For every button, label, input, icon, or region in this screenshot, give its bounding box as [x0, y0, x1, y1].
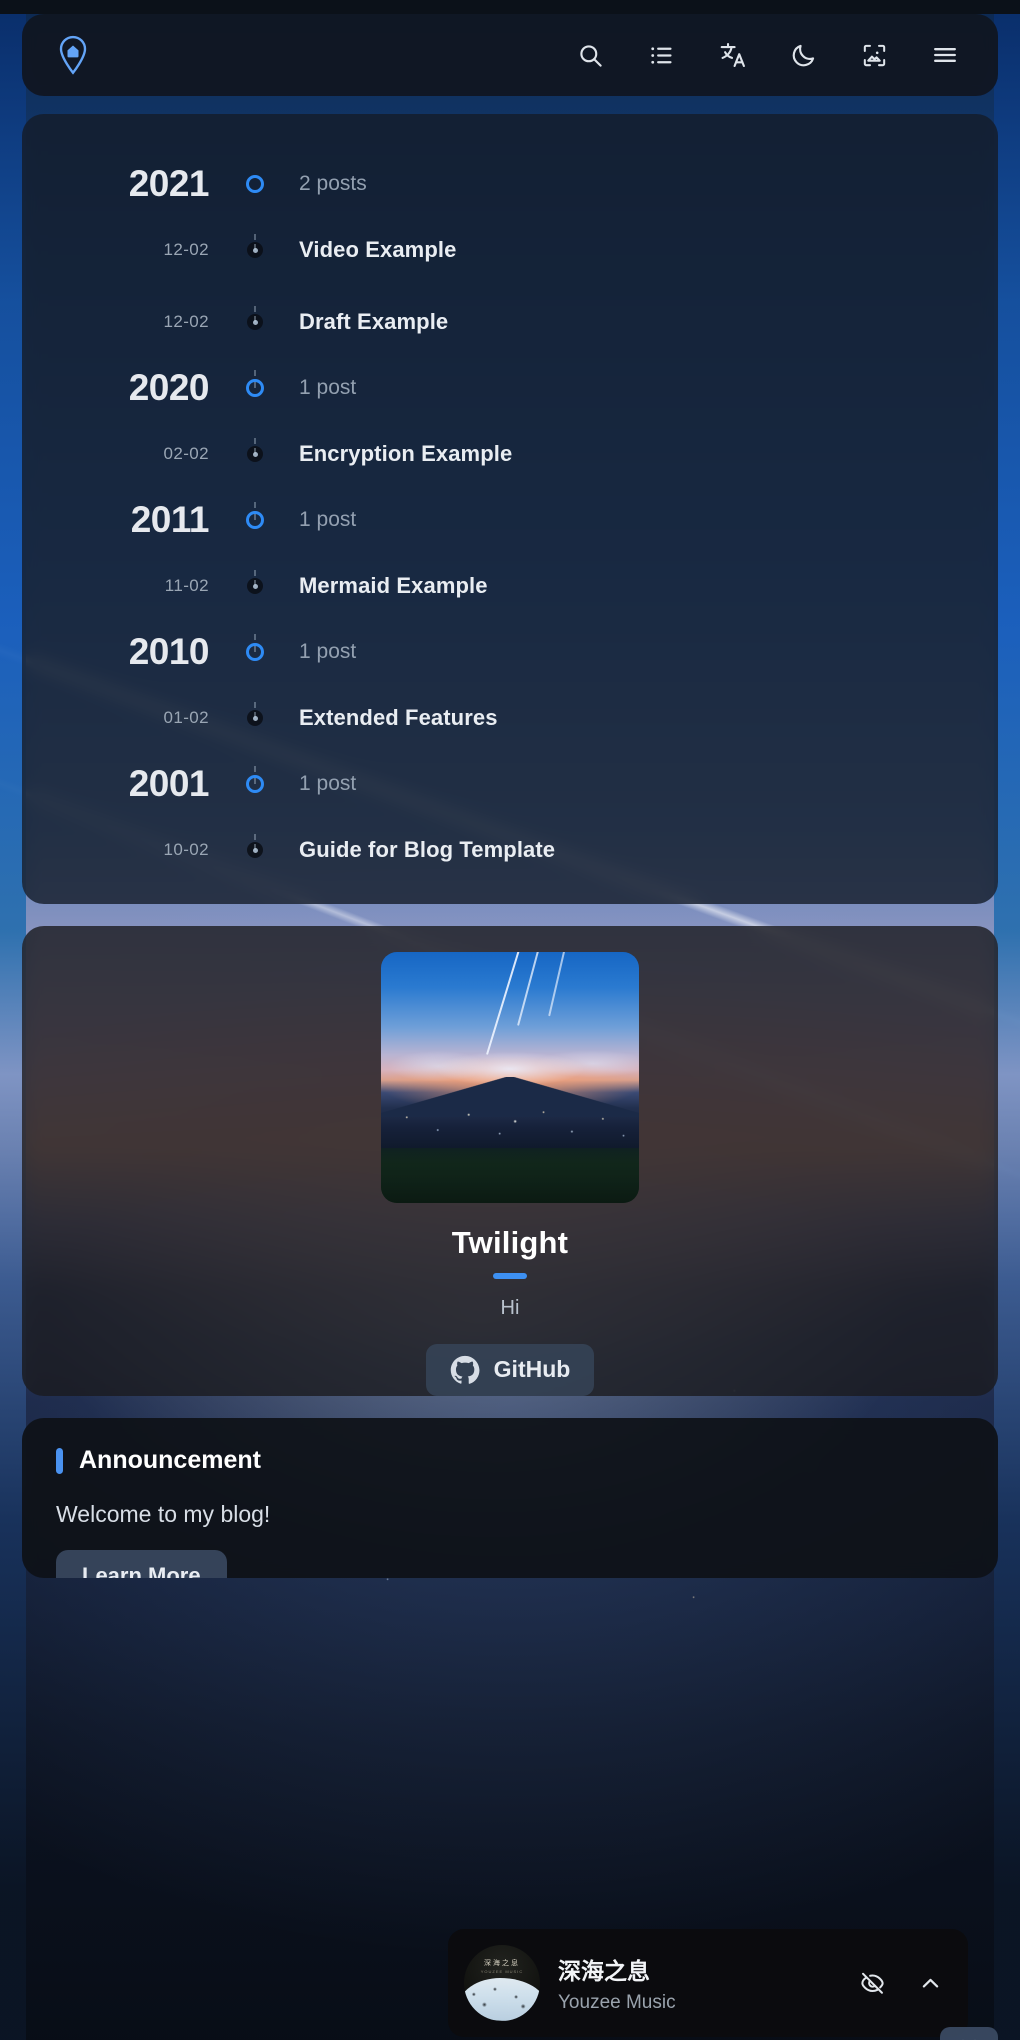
timeline-year: 2010: [129, 631, 209, 672]
timeline-year-dot: [246, 175, 264, 193]
timeline-year-dot: [246, 643, 264, 661]
timeline-year-row: 20212 posts: [22, 154, 998, 214]
timeline-date-cell: 12-02: [22, 312, 235, 332]
timeline-year-dot: [246, 511, 264, 529]
timeline-title-cell: Extended Features: [275, 705, 998, 731]
timeline-count-cell: 1 post: [275, 772, 998, 796]
timeline-count-cell: 1 post: [275, 640, 998, 664]
timeline-post-count: 1 post: [299, 640, 356, 663]
timeline-marker-column: [235, 710, 275, 726]
timeline-year-cell: 2001: [22, 763, 235, 805]
toc-list-icon[interactable]: [644, 38, 678, 72]
timeline-marker-column: [235, 775, 275, 793]
timeline-post-row[interactable]: 02-02Encryption Example: [22, 418, 998, 490]
timeline-post-dot: [247, 842, 263, 858]
avatar: [381, 952, 639, 1203]
timeline-year: 2020: [129, 367, 209, 408]
timeline-post-dot: [247, 446, 263, 462]
github-link-button[interactable]: GitHub: [426, 1344, 595, 1396]
timeline-post-dot: [247, 578, 263, 594]
timeline-post-row[interactable]: 10-02Guide for Blog Template: [22, 814, 998, 886]
profile-divider: [493, 1273, 527, 1279]
timeline-year: 2001: [129, 763, 209, 804]
archive-timeline: 20212 posts12-02Video Example12-02Draft …: [22, 114, 998, 904]
timeline-post-date: 12-02: [164, 240, 209, 259]
timeline-post-date: 02-02: [164, 444, 209, 463]
timeline-post-row[interactable]: 01-02Extended Features: [22, 682, 998, 754]
timeline-year-row: 20201 post: [22, 358, 998, 418]
timeline-post-dot: [247, 314, 263, 330]
announcement-accent-bar: [56, 1448, 63, 1474]
timeline-date-cell: 12-02: [22, 240, 235, 260]
translate-icon[interactable]: [715, 38, 749, 72]
timeline-body: 20212 posts12-02Video Example12-02Draft …: [22, 154, 998, 886]
timeline-year-cell: 2011: [22, 499, 235, 541]
timeline-count-cell: 1 post: [275, 508, 998, 532]
timeline-post-count: 2 posts: [299, 172, 367, 195]
music-artist: Youzee Music: [558, 1992, 834, 2014]
timeline-year: 2011: [131, 499, 209, 540]
announcement-header: Announcement: [56, 1446, 964, 1475]
timeline-title-cell: Draft Example: [275, 309, 998, 335]
timeline-title-cell: Video Example: [275, 237, 998, 263]
chevron-up-icon[interactable]: [910, 1963, 950, 2003]
timeline-post-title[interactable]: Video Example: [299, 237, 456, 262]
timeline-date-cell: 02-02: [22, 444, 235, 464]
timeline-post-date: 12-02: [164, 312, 209, 331]
timeline-title-cell: Guide for Blog Template: [275, 837, 998, 863]
timeline-title-cell: Encryption Example: [275, 441, 998, 467]
profile-bio: Hi: [501, 1297, 520, 1320]
timeline-marker-column: [235, 511, 275, 529]
timeline-marker-column: [235, 175, 275, 193]
timeline-post-count: 1 post: [299, 772, 356, 795]
timeline-date-cell: 11-02: [22, 576, 235, 596]
timeline-year-row: 20101 post: [22, 622, 998, 682]
moon-icon[interactable]: [786, 38, 820, 72]
timeline-post-row[interactable]: 11-02Mermaid Example: [22, 550, 998, 622]
timeline-post-title[interactable]: Extended Features: [299, 705, 498, 730]
profile-card: Twilight Hi GitHub: [22, 926, 998, 1396]
timeline-year-row: 20011 post: [22, 754, 998, 814]
timeline-marker-column: [235, 842, 275, 858]
music-player: 深海之息 YOUZEE MUSIC 深海之息 Youzee Music: [448, 1929, 968, 2037]
timeline-post-title[interactable]: Mermaid Example: [299, 573, 488, 598]
timeline-post-count: 1 post: [299, 376, 356, 399]
timeline-marker-column: [235, 242, 275, 258]
timeline-post-dot: [247, 710, 263, 726]
github-icon: [450, 1355, 480, 1385]
close-icon[interactable]: [940, 2027, 998, 2040]
timeline-year-cell: 2021: [22, 163, 235, 205]
timeline-post-title[interactable]: Draft Example: [299, 309, 448, 334]
search-icon[interactable]: [573, 38, 607, 72]
timeline-post-row[interactable]: 12-02Draft Example: [22, 286, 998, 358]
timeline-marker-column: [235, 578, 275, 594]
timeline-marker-column: [235, 643, 275, 661]
timeline-post-date: 10-02: [164, 840, 209, 859]
menu-icon[interactable]: [928, 38, 962, 72]
timeline-post-title[interactable]: Encryption Example: [299, 441, 512, 466]
music-info: 深海之息 Youzee Music: [558, 1952, 834, 2014]
album-cover-wave: [464, 1978, 540, 2021]
announcement-card: Announcement Welcome to my blog! Learn M…: [22, 1418, 998, 1578]
github-label: GitHub: [494, 1356, 571, 1383]
timeline-title-cell: Mermaid Example: [275, 573, 998, 599]
timeline-count-cell: 1 post: [275, 376, 998, 400]
album-cover: 深海之息 YOUZEE MUSIC: [464, 1945, 540, 2021]
image-icon[interactable]: [857, 38, 891, 72]
timeline-marker-column: [235, 379, 275, 397]
timeline-count-cell: 2 posts: [275, 172, 998, 196]
site-header: [22, 14, 998, 96]
timeline-post-title[interactable]: Guide for Blog Template: [299, 837, 555, 862]
timeline-date-cell: 01-02: [22, 708, 235, 728]
timeline-date-cell: 10-02: [22, 840, 235, 860]
profile-name: Twilight: [452, 1225, 568, 1261]
timeline-post-date: 01-02: [164, 708, 209, 727]
album-cover-title: 深海之息: [464, 1958, 540, 1968]
timeline-marker-column: [235, 314, 275, 330]
page-root: 20212 posts12-02Video Example12-02Draft …: [0, 14, 1020, 2040]
timeline-marker-column: [235, 446, 275, 462]
timeline-year-dot: [246, 379, 264, 397]
timeline-post-date: 11-02: [165, 576, 209, 595]
announcement-title: Announcement: [79, 1446, 261, 1475]
timeline-post-row[interactable]: 12-02Video Example: [22, 214, 998, 286]
timeline-year-cell: 2020: [22, 367, 235, 409]
learn-more-button[interactable]: Learn More: [56, 1550, 227, 1578]
timeline-year-dot: [246, 775, 264, 793]
timeline-year-row: 20111 post: [22, 490, 998, 550]
header-nav-icons: [573, 38, 962, 72]
album-cover-subtitle: YOUZEE MUSIC: [464, 1969, 540, 1974]
eye-off-icon[interactable]: [852, 1963, 892, 2003]
timeline-post-count: 1 post: [299, 508, 356, 531]
announcement-body: Welcome to my blog!: [56, 1501, 964, 1528]
timeline-post-dot: [247, 242, 263, 258]
music-title: 深海之息: [558, 1952, 834, 1986]
home-pin-icon[interactable]: [58, 33, 92, 77]
timeline-year-cell: 2010: [22, 631, 235, 673]
timeline-year: 2021: [129, 163, 209, 204]
